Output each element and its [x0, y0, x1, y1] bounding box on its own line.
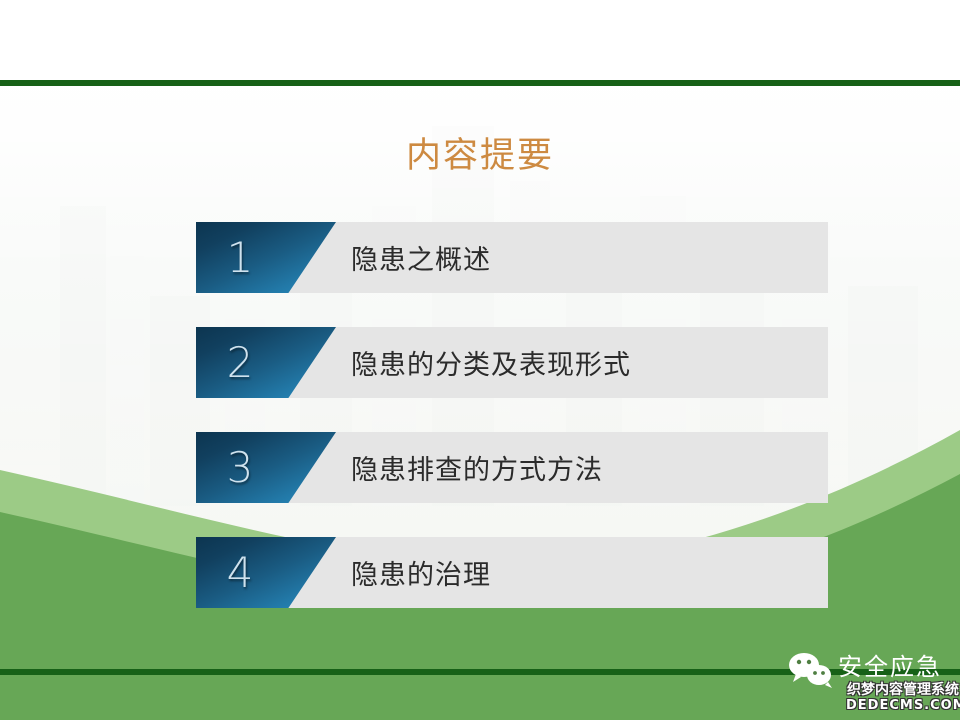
agenda-item-1[interactable]: 1 隐患之概述 — [196, 222, 828, 293]
agenda-number-badge: 1 — [196, 222, 336, 293]
top-green-rule — [0, 80, 960, 86]
agenda-item-2[interactable]: 2 隐患的分类及表现形式 — [196, 327, 828, 398]
agenda-item-4[interactable]: 4 隐患的治理 — [196, 537, 828, 608]
brand-name: 安全应急 — [838, 650, 942, 684]
agenda-number: 1 — [196, 222, 284, 293]
agenda-number-badge: 2 — [196, 327, 336, 398]
slide-canvas: 内容提要 1 隐患之概述 2 隐患的分类及表现形式 3 隐患排查的方式方法 — [0, 0, 960, 720]
agenda-number-badge: 4 — [196, 537, 336, 608]
agenda-label: 隐患排查的方式方法 — [351, 432, 603, 503]
agenda-number: 3 — [196, 432, 284, 503]
agenda-number-badge: 3 — [196, 432, 336, 503]
agenda-label: 隐患的分类及表现形式 — [351, 327, 631, 398]
agenda-item-3[interactable]: 3 隐患排查的方式方法 — [196, 432, 828, 503]
page-title: 内容提要 — [0, 134, 960, 178]
watermark-en: DEDECMS.COM — [846, 698, 960, 714]
agenda-number: 4 — [196, 537, 284, 608]
agenda-label: 隐患的治理 — [351, 537, 491, 608]
wechat-icon — [788, 652, 834, 688]
agenda-label: 隐患之概述 — [351, 222, 491, 293]
watermark-cn: 织梦内容管理系统 — [846, 682, 960, 698]
agenda-list: 1 隐患之概述 2 隐患的分类及表现形式 3 隐患排查的方式方法 4 隐患的治理 — [196, 222, 828, 608]
watermark: 织梦内容管理系统 DEDECMS.COM — [846, 682, 960, 714]
agenda-number: 2 — [196, 327, 284, 398]
